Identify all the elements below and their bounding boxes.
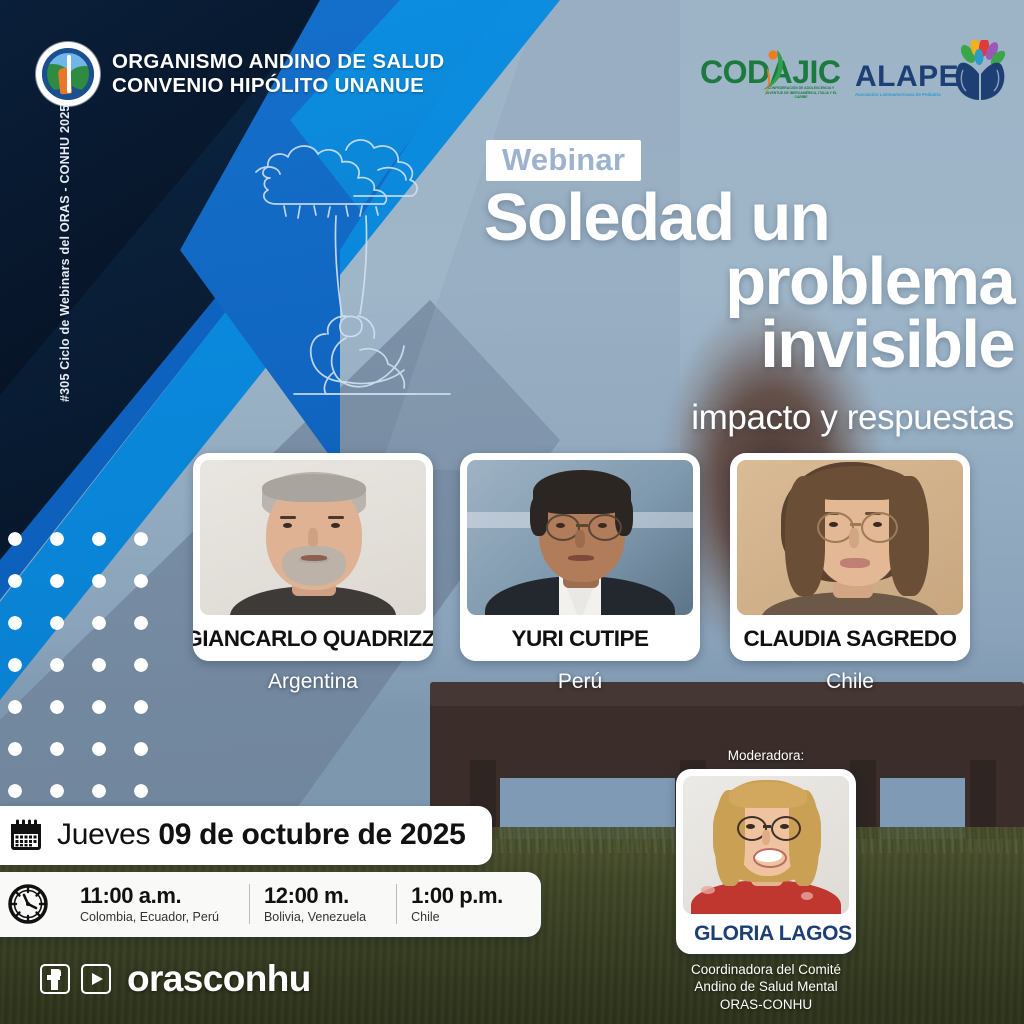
- webinar-tag-label: Webinar: [502, 142, 625, 177]
- speaker-photo: [200, 460, 426, 615]
- title-line-3: invisible: [484, 313, 1014, 377]
- timezone-time: 11:00 a.m.: [80, 884, 219, 908]
- moderator-role-line2: Andino de Salud Mental: [666, 978, 866, 995]
- org-name-line2: CONVENIO HIPÓLITO UNANUE: [112, 74, 444, 98]
- org-name-line1: ORGANISMO ANDINO DE SALUD: [112, 50, 444, 74]
- timezone-places: Bolivia, Venezuela: [264, 910, 366, 924]
- organization-name: ORGANISMO ANDINO DE SALUD CONVENIO HIPÓL…: [112, 50, 444, 98]
- speaker-country: Argentina: [193, 670, 433, 694]
- timezone-places: Chile: [411, 910, 503, 924]
- speaker-name: YURI CUTIPE: [460, 616, 700, 661]
- codajic-logo: CODAJIC CONFEDERACIÓN DE ADOLESCENCIA Y …: [700, 48, 840, 104]
- social-bar: orasconhu: [40, 958, 311, 1000]
- alape-wordmark: ALAPE: [855, 60, 959, 94]
- timezone-places: Colombia, Ecuador, Perú: [80, 910, 219, 924]
- moderator-block: Moderadora: G: [666, 748, 866, 1013]
- speaker-photo: [467, 460, 693, 615]
- clock-icon: [6, 882, 50, 926]
- moderator-role-line1: Coordinadora del Comité: [666, 961, 866, 978]
- alape-hands-leaves-icon: [948, 40, 1008, 102]
- calendar-icon: [8, 817, 44, 853]
- social-handle[interactable]: orasconhu: [127, 958, 311, 1000]
- webinar-poster: ORGANISMO ANDINO DE SALUD CONVENIO HIPÓL…: [0, 0, 1024, 1024]
- date-weekday: Jueves: [57, 818, 150, 851]
- timezone-entry: 11:00 a.m. Colombia, Ecuador, Perú: [66, 884, 233, 923]
- moderator-label: Moderadora:: [666, 748, 866, 763]
- speaker-photo: [737, 460, 963, 615]
- youtube-icon[interactable]: [81, 964, 111, 994]
- codajic-tagline: CONFEDERACIÓN DE ADOLESCENCIA Y JUVENTUD…: [762, 86, 840, 100]
- speaker-card: CLAUDIA SAGREDO Chile: [730, 453, 970, 694]
- oras-conhu-seal-icon: [36, 42, 100, 106]
- rain-cloud-person-illustration: [250, 120, 480, 410]
- alape-logo: ALAPE Asociación Latinoamericana de Pedi…: [855, 44, 1005, 108]
- date-value: 09 de octubre de 2025: [158, 818, 465, 851]
- speaker-card: GIANCARLO QUADRIZZI Argentina: [193, 453, 433, 694]
- webinar-series-label: #305 Ciclo de Webinars del ORAS - CONHU …: [58, 122, 72, 402]
- webinar-tag: Webinar: [486, 140, 641, 181]
- speaker-name: CLAUDIA SAGREDO: [730, 616, 970, 661]
- page-title: Soledad un problema invisible: [484, 186, 1014, 377]
- date-text: Jueves 09 de octubre de 2025: [57, 818, 466, 852]
- moderator-role: Coordinadora del Comité Andino de Salud …: [666, 961, 866, 1013]
- timezone-time: 1:00 p.m.: [411, 884, 503, 908]
- facebook-icon[interactable]: [40, 964, 70, 994]
- moderator-photo: [683, 776, 849, 914]
- timezone-entry: 1:00 p.m. Chile: [396, 884, 517, 923]
- date-bar: Jueves 09 de octubre de 2025: [0, 806, 492, 865]
- moderator-role-line3: ORAS-CONHU: [666, 996, 866, 1013]
- speaker-list: GIANCARLO QUADRIZZI Argentina: [0, 453, 1024, 723]
- timezone-time: 12:00 m.: [264, 884, 366, 908]
- speaker-name: GIANCARLO QUADRIZZI: [193, 616, 433, 661]
- title-line-2: problema: [484, 250, 1014, 314]
- oras-conhu-logo: ORGANISMO ANDINO DE SALUD CONVENIO HIPÓL…: [36, 42, 444, 106]
- speaker-country: Chile: [730, 670, 970, 694]
- speaker-country: Perú: [460, 670, 700, 694]
- moderator-name: GLORIA LAGOS: [683, 914, 856, 954]
- timezone-entry: 12:00 m. Bolivia, Venezuela: [249, 884, 380, 923]
- page-subtitle: impacto y respuestas: [484, 398, 1014, 438]
- time-bar: 11:00 a.m. Colombia, Ecuador, Perú 12:00…: [0, 872, 541, 937]
- speaker-card: YURI CUTIPE Perú: [460, 453, 700, 694]
